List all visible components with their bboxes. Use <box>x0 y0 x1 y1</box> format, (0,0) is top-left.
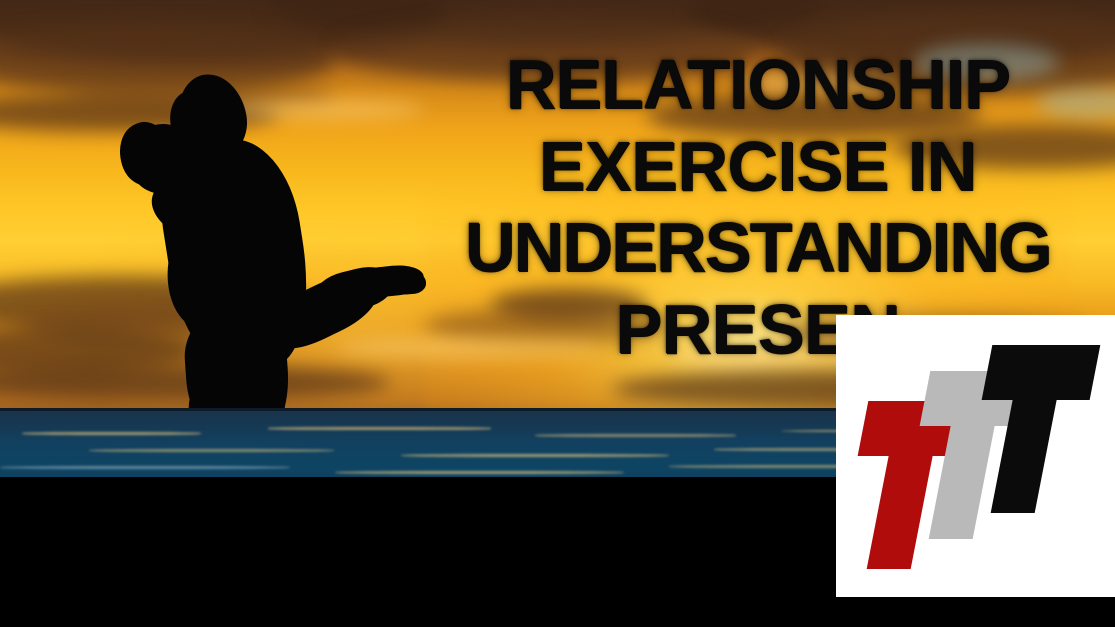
triple-t-logo-icon <box>852 345 1102 565</box>
logo-watermark <box>836 315 1115 597</box>
silhouette-raised-toe <box>397 271 426 295</box>
water-glint <box>0 466 290 469</box>
water-glint <box>22 432 200 435</box>
water-glint <box>268 427 491 429</box>
water-glint <box>335 471 625 474</box>
water-glint <box>89 449 334 452</box>
video-thumbnail: RELATIONSHIP EXERCISE IN UNDERSTANDING P… <box>0 0 1115 627</box>
logo-t-black-stem <box>991 397 1058 513</box>
water-glint <box>535 434 736 437</box>
logo-t-black-bar <box>982 345 1101 400</box>
water-glint <box>401 454 669 457</box>
